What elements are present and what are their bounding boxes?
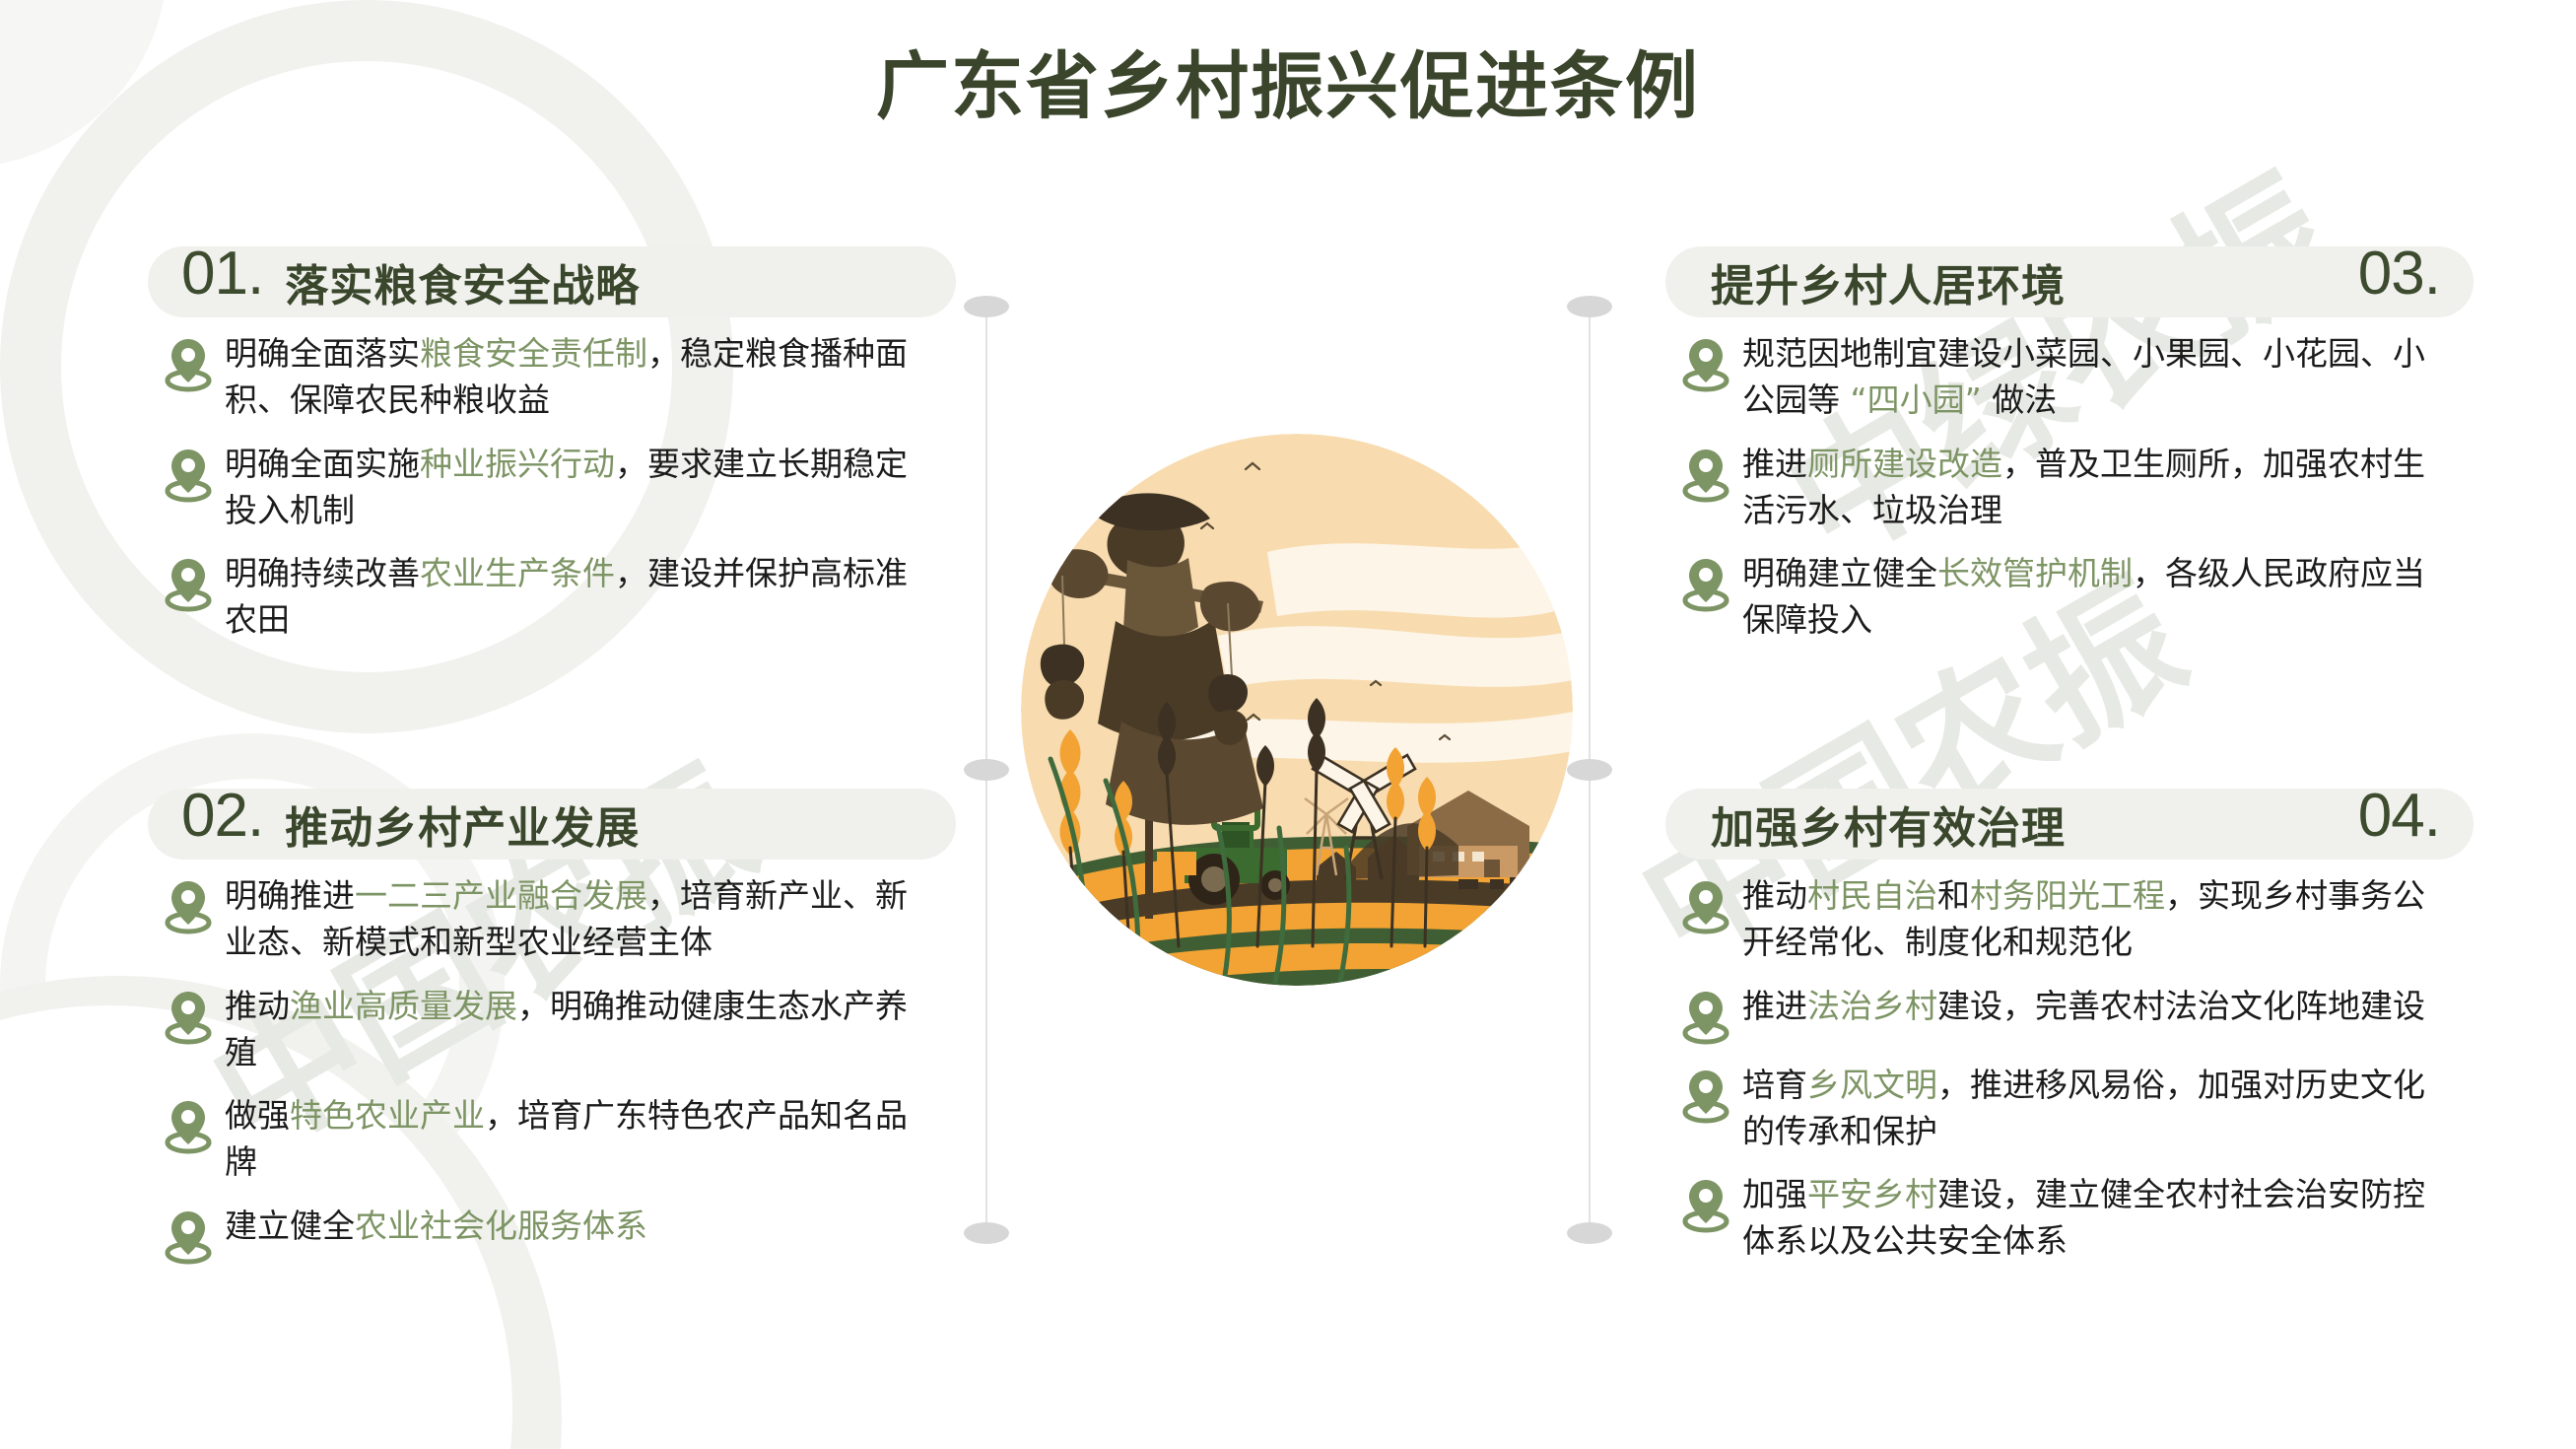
list-item-text: 推进法治乡村建设，完善农村法治文化阵地建设 — [1742, 984, 2425, 1030]
list-item-text: 建立健全农业社会化服务体系 — [225, 1204, 647, 1250]
section-04-header: 加强乡村有效治理 04. — [1665, 789, 2474, 860]
rail-node-right-3 — [1567, 1222, 1612, 1244]
section-04-bullets: 推动村民自治和村务阳光工程，实现乡村事务公开经常化、制度化和规范化 推进法治乡村… — [1665, 873, 2474, 1265]
section-03-bullets: 规范因地制宜建设小菜园、小果园、小花园、小公园等 “四小园” 做法 推进厕所建设… — [1665, 331, 2474, 644]
list-item: 明确全面落实粮食安全责任制，稳定粮食播种面积、保障农民种粮收益 — [162, 331, 956, 424]
section-01: 01. 落实粮食安全战略 明确全面落实粮食安全责任制，稳定粮食播种面积、保障农民… — [148, 246, 956, 661]
section-03-number: 03. — [2358, 243, 2440, 305]
section-03: 提升乡村人居环境 03. 规范因地制宜建设小菜园、小果园、小花园、小公园等 “四… — [1665, 246, 2474, 661]
map-pin-icon — [162, 1207, 215, 1265]
list-item-text: 推动渔业高质量发展，明确推动健康生态水产养殖 — [225, 984, 934, 1076]
list-item: 培育乡风文明，推进移风易俗，加强对历史文化的传承和保护 — [1679, 1063, 2474, 1155]
rail-node-left-3 — [964, 1222, 1009, 1244]
map-pin-icon — [162, 988, 215, 1045]
list-item-text: 明确持续改善农业生产条件，建设并保护高标准农田 — [225, 551, 934, 644]
section-01-number: 01. — [181, 243, 263, 305]
rail-node-left-1 — [964, 296, 1009, 317]
rail-node-left-2 — [964, 759, 1009, 781]
map-pin-icon — [1679, 877, 1732, 934]
infographic-canvas: 中国农振 中国农振 中绿农振 广东省乡村振兴促进条例 — [0, 0, 2576, 1449]
section-02: 02. 推动乡村产业发展 明确推进一二三产业融合发展，培育新产业、新业态、新模式… — [148, 789, 956, 1282]
list-item-text: 推进厕所建设改造，普及卫生厕所，加强农村生活污水、垃圾治理 — [1742, 442, 2452, 534]
connector-rail-left — [985, 296, 987, 1232]
section-03-header: 提升乡村人居环境 03. — [1665, 246, 2474, 317]
list-item: 建立健全农业社会化服务体系 — [162, 1204, 956, 1265]
list-item-text: 规范因地制宜建设小菜园、小果园、小花园、小公园等 “四小园” 做法 — [1742, 331, 2452, 424]
list-item-text: 明确全面落实粮食安全责任制，稳定粮食播种面积、保障农民种粮收益 — [225, 331, 934, 424]
section-02-number: 02. — [181, 786, 263, 847]
section-04: 加强乡村有效治理 04. 推动村民自治和村务阳光工程，实现乡村事务公开经常化、制… — [1665, 789, 2474, 1282]
map-pin-icon — [1679, 1067, 1732, 1124]
list-item: 明确推进一二三产业融合发展，培育新产业、新业态、新模式和新型农业经营主体 — [162, 873, 956, 966]
rural-farm-illustration — [1021, 434, 1573, 986]
map-pin-icon — [1679, 1176, 1732, 1233]
section-02-bullets: 明确推进一二三产业融合发展，培育新产业、新业态、新模式和新型农业经营主体 推动渔… — [148, 873, 956, 1265]
map-pin-icon — [162, 877, 215, 934]
list-item: 推进厕所建设改造，普及卫生厕所，加强农村生活污水、垃圾治理 — [1679, 442, 2474, 534]
page-title: 广东省乡村振兴促进条例 — [0, 28, 2576, 133]
map-pin-icon — [162, 555, 215, 612]
connector-rail-right — [1589, 296, 1591, 1232]
list-item: 推动渔业高质量发展，明确推动健康生态水产养殖 — [162, 984, 956, 1076]
map-pin-icon — [162, 335, 215, 392]
list-item-text: 培育乡风文明，推进移风易俗，加强对历史文化的传承和保护 — [1742, 1063, 2452, 1155]
list-item-text: 明确全面实施种业振兴行动，要求建立长期稳定投入机制 — [225, 442, 934, 534]
list-item-text: 明确推进一二三产业融合发展，培育新产业、新业态、新模式和新型农业经营主体 — [225, 873, 934, 966]
map-pin-icon — [1679, 988, 1732, 1045]
section-04-title: 加强乡村有效治理 — [1711, 793, 2066, 856]
list-item: 推动村民自治和村务阳光工程，实现乡村事务公开经常化、制度化和规范化 — [1679, 873, 2474, 966]
map-pin-icon — [1679, 335, 1732, 392]
map-pin-icon — [162, 446, 215, 503]
list-item-text: 推动村民自治和村务阳光工程，实现乡村事务公开经常化、制度化和规范化 — [1742, 873, 2452, 966]
section-01-header: 01. 落实粮食安全战略 — [148, 246, 956, 317]
list-item: 做强特色农业产业，培育广东特色农产品知名品牌 — [162, 1093, 956, 1186]
map-pin-icon — [1679, 446, 1732, 503]
list-item: 明确建立健全长效管护机制，各级人民政府应当保障投入 — [1679, 551, 2474, 644]
rail-node-right-2 — [1567, 759, 1612, 781]
section-01-title: 落实粮食安全战略 — [285, 250, 640, 313]
rail-node-right-1 — [1567, 296, 1612, 317]
map-pin-icon — [162, 1097, 215, 1154]
list-item: 规范因地制宜建设小菜园、小果园、小花园、小公园等 “四小园” 做法 — [1679, 331, 2474, 424]
list-item: 明确持续改善农业生产条件，建设并保护高标准农田 — [162, 551, 956, 644]
list-item: 加强平安乡村建设，建立健全农村社会治安防控体系以及公共安全体系 — [1679, 1172, 2474, 1265]
section-03-title: 提升乡村人居环境 — [1711, 250, 2066, 313]
section-02-title: 推动乡村产业发展 — [285, 793, 640, 856]
section-01-bullets: 明确全面落实粮食安全责任制，稳定粮食播种面积、保障农民种粮收益 明确全面实施种业… — [148, 331, 956, 644]
list-item-text: 做强特色农业产业，培育广东特色农产品知名品牌 — [225, 1093, 934, 1186]
section-02-header: 02. 推动乡村产业发展 — [148, 789, 956, 860]
list-item: 推进法治乡村建设，完善农村法治文化阵地建设 — [1679, 984, 2474, 1045]
map-pin-icon — [1679, 555, 1732, 612]
section-04-number: 04. — [2358, 786, 2440, 847]
list-item: 明确全面实施种业振兴行动，要求建立长期稳定投入机制 — [162, 442, 956, 534]
list-item-text: 加强平安乡村建设，建立健全农村社会治安防控体系以及公共安全体系 — [1742, 1172, 2452, 1265]
list-item-text: 明确建立健全长效管护机制，各级人民政府应当保障投入 — [1742, 551, 2452, 644]
